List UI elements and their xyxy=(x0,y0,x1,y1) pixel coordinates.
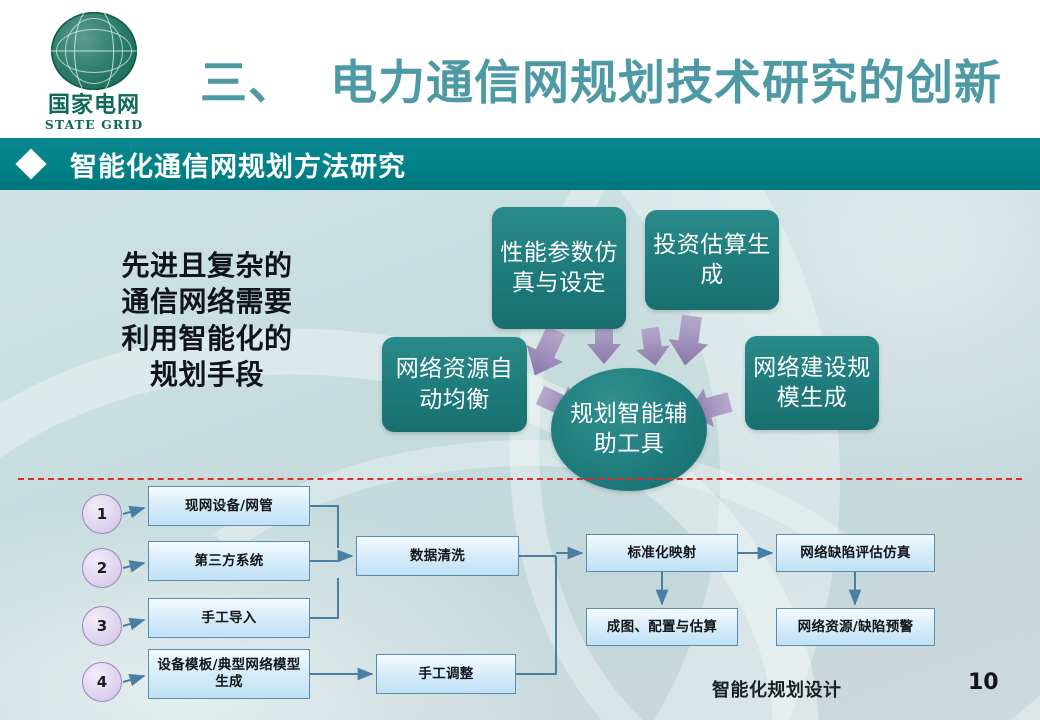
flow-box-defect-simulation[interactable]: 网络缺陷评估仿真 xyxy=(776,534,935,572)
logo-band-inner xyxy=(65,18,123,83)
concept-node-resource[interactable]: 网络资源自动均衡 xyxy=(382,337,527,432)
flow-box-data-cleaning[interactable]: 数据清洗 xyxy=(356,536,519,576)
slide-root: 国家电网 STATE GRID 三、电力通信网规划技术研究的创新 智能化通信网规… xyxy=(0,0,1040,720)
flow-box-manual-import[interactable]: 手工导入 xyxy=(148,598,310,638)
flow-box-network-equipment[interactable]: 现网设备/网管 xyxy=(148,486,310,526)
flow-box-template-generation[interactable]: 设备模板/典型网络模型生成 xyxy=(148,649,310,699)
flowchart: 1 2 3 4 现网设备/网管 第三方系统 手工导入 设备模板/典型网络模型生成… xyxy=(0,486,1040,720)
page-title-index: 三、 xyxy=(200,56,296,111)
step-number-2: 2 xyxy=(82,548,122,588)
concept-node-performance[interactable]: 性能参数仿真与设定 xyxy=(492,207,626,329)
state-grid-logo: 国家电网 STATE GRID xyxy=(28,12,160,132)
section-divider xyxy=(18,478,1022,480)
footer-label: 智能化规划设计 xyxy=(712,676,842,702)
page-title: 三、电力通信网规划技术研究的创新 xyxy=(200,44,1030,113)
logo-english-name: STATE GRID xyxy=(45,117,144,132)
slide-body: 先进且复杂的 通信网络需要 利用智能化的 规划手段 xyxy=(0,190,1040,720)
statement-line-3: 利用智能化的 xyxy=(72,321,342,357)
concept-node-construction[interactable]: 网络建设规模生成 xyxy=(745,336,879,430)
slide-header: 国家电网 STATE GRID 三、电力通信网规划技术研究的创新 xyxy=(0,0,1040,138)
flow-box-standard-mapping[interactable]: 标准化映射 xyxy=(586,534,738,572)
diamond-bullet-icon xyxy=(15,148,46,179)
logo-chinese-name: 国家电网 xyxy=(48,94,140,117)
step-number-3: 3 xyxy=(82,606,122,646)
flow-box-mapping-config-est[interactable]: 成图、配置与估算 xyxy=(586,608,738,646)
concept-node-center[interactable]: 规划智能辅助工具 xyxy=(551,368,707,491)
section-subtitle-text: 智能化通信网规划方法研究 xyxy=(70,145,406,184)
flow-box-resource-warning[interactable]: 网络资源/缺陷预警 xyxy=(776,608,935,646)
page-number: 10 xyxy=(968,670,999,695)
section-subtitle-bar: 智能化通信网规划方法研究 xyxy=(0,138,1040,190)
page-title-text: 电力通信网规划技术研究的创新 xyxy=(330,56,1002,111)
concept-node-investment[interactable]: 投资估算生成 xyxy=(645,210,779,310)
statement-block: 先进且复杂的 通信网络需要 利用智能化的 规划手段 xyxy=(72,248,342,394)
statement-line-4: 规划手段 xyxy=(72,357,342,393)
statement-line-2: 通信网络需要 xyxy=(72,284,342,320)
statement-line-1: 先进且复杂的 xyxy=(72,248,342,284)
step-number-4: 4 xyxy=(82,662,122,702)
step-number-1: 1 xyxy=(82,494,122,534)
state-grid-globe-icon xyxy=(51,12,137,90)
flow-box-manual-adjustment[interactable]: 手工调整 xyxy=(376,654,516,694)
flow-box-third-party-system[interactable]: 第三方系统 xyxy=(148,541,310,581)
